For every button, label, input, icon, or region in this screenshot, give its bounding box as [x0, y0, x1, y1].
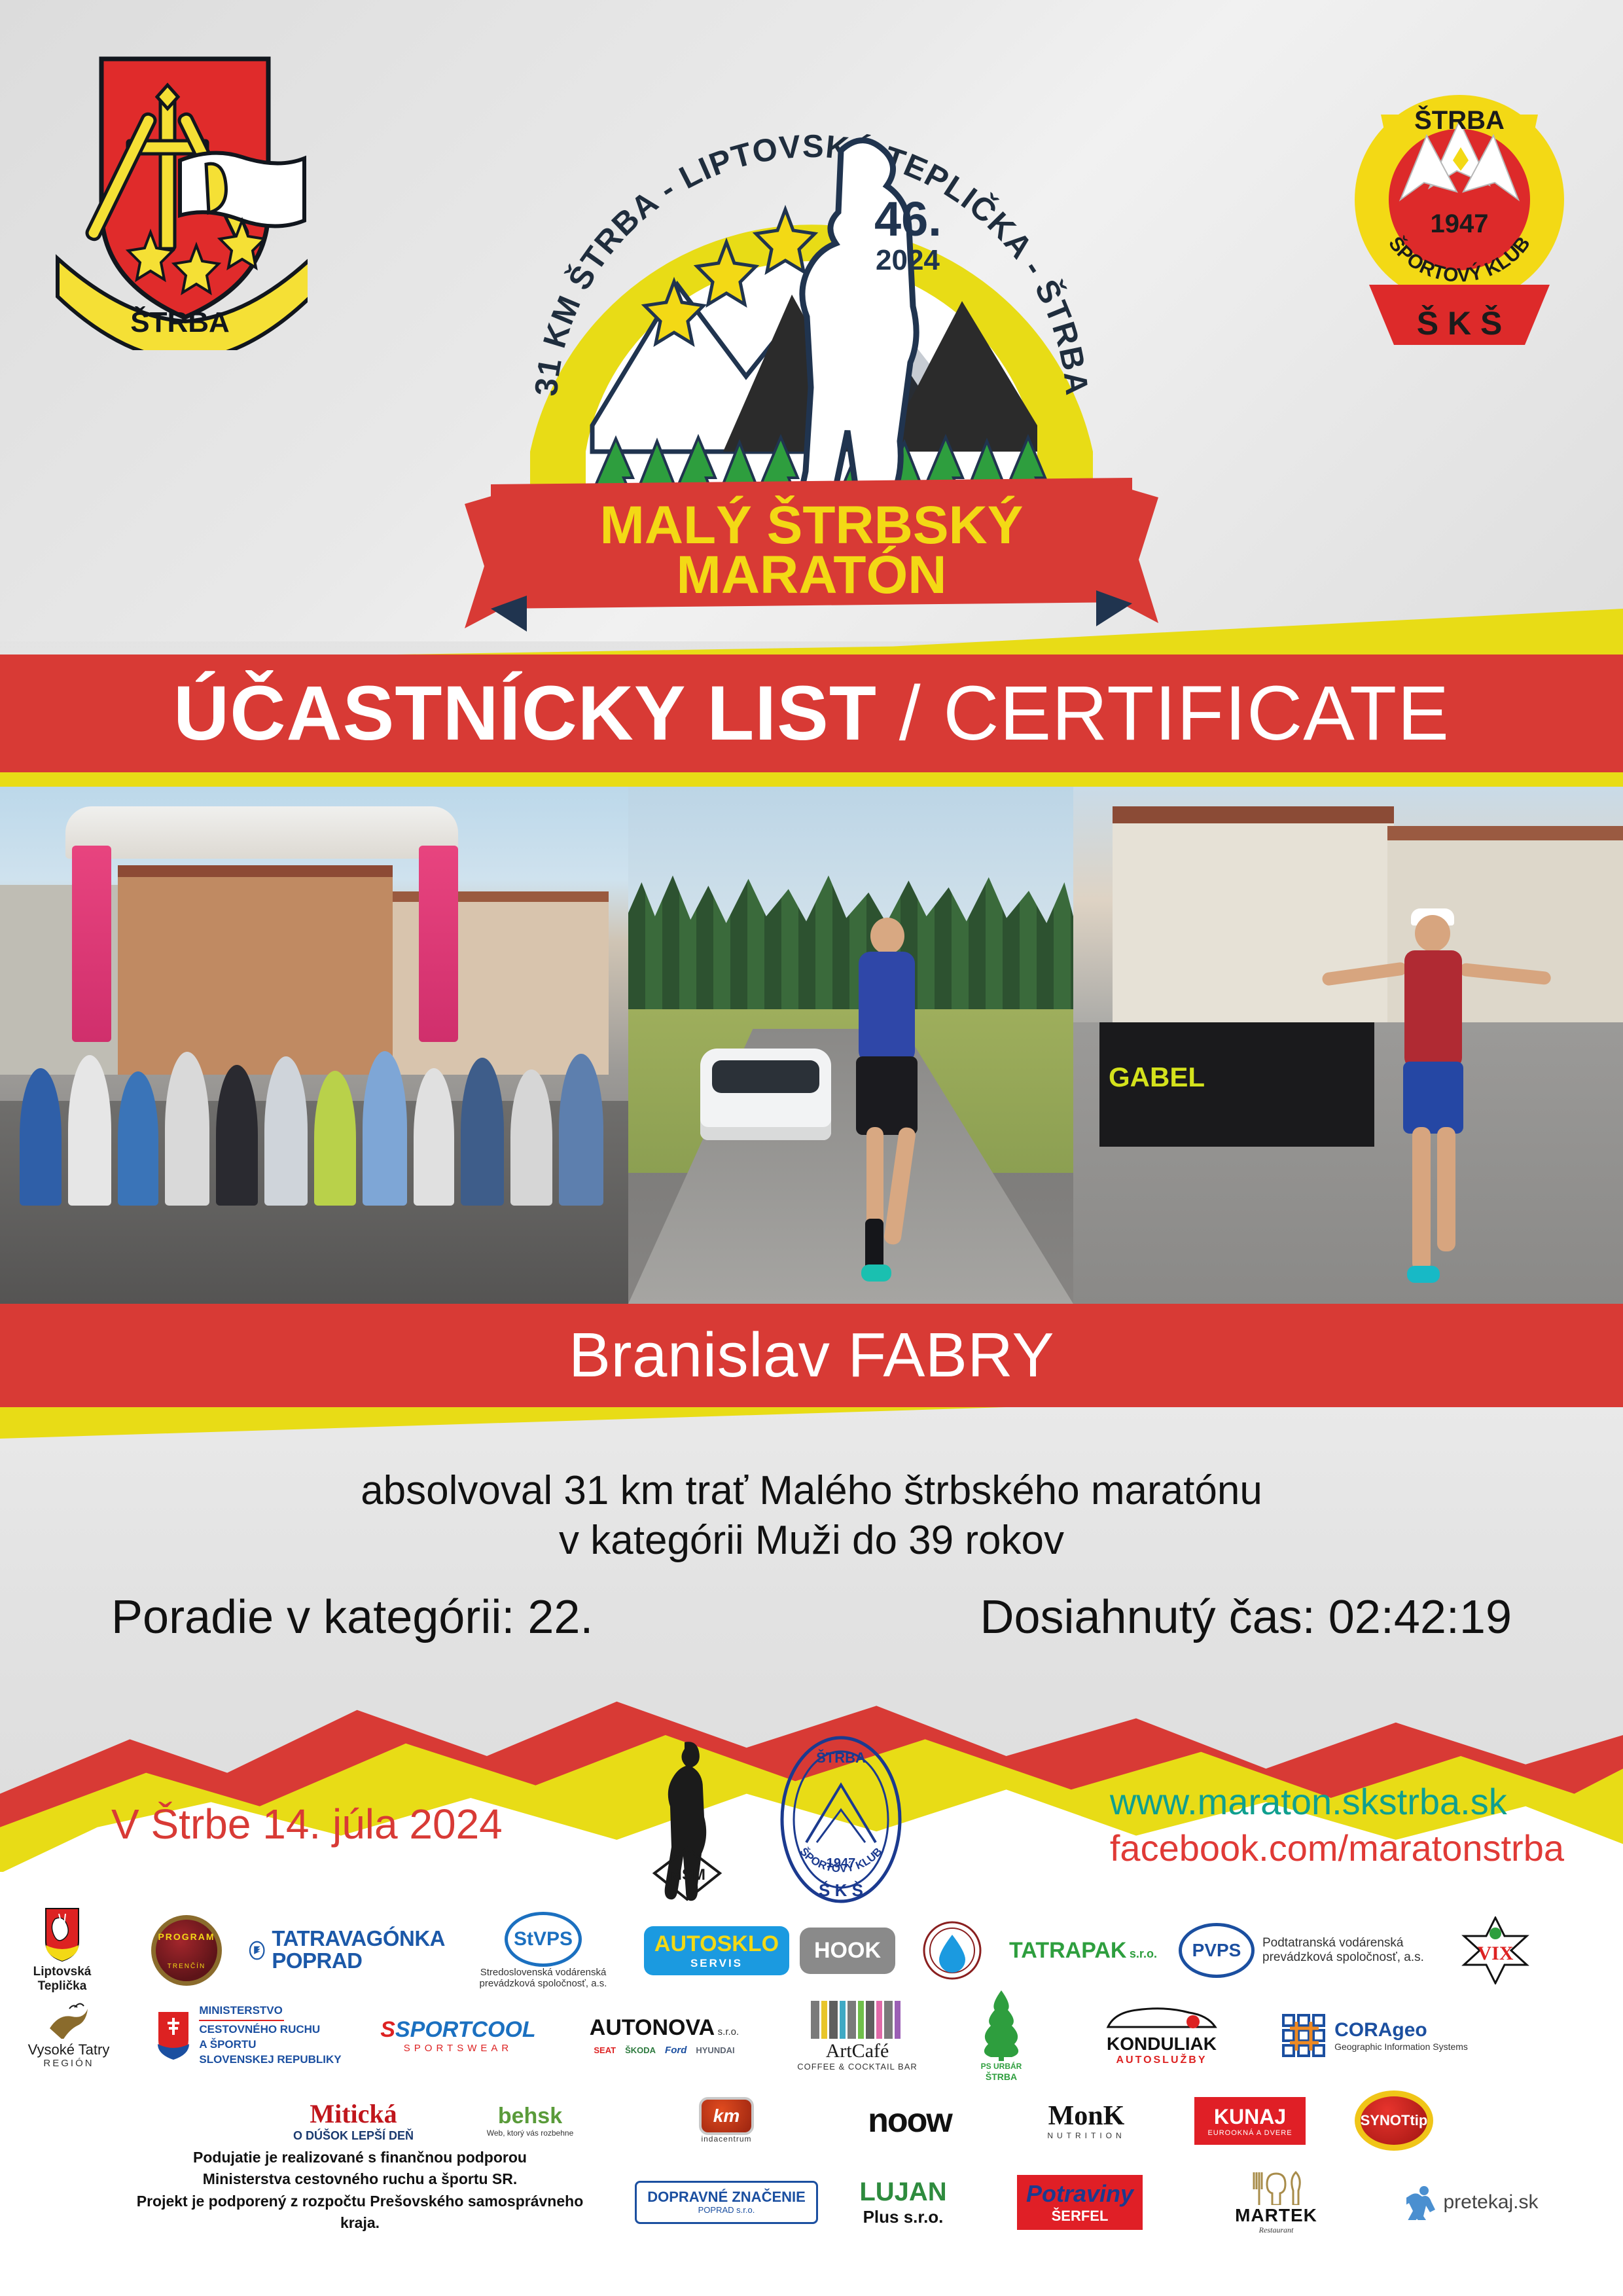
sponsor-label: SYNOTtip [1361, 2112, 1428, 2129]
sponsor-ps-urbar-strba: PS URBÁR ŠTRBA [942, 1989, 1060, 2082]
sponsor-label: LUJAN [859, 2178, 946, 2207]
sponsor-label: VIX [1477, 1943, 1513, 1964]
sponsor-sublabel: REGIÓN [43, 2058, 94, 2069]
sponsor-sublabel: POPRAD [272, 1949, 445, 1973]
strba-municipal-crest-icon: ŠTRBA [46, 36, 308, 350]
sponsor-pvps: PVPS Podtatranská vodárenská prevádzková… [1165, 1923, 1440, 1978]
footer-links: www.maraton.skstrba.sk facebook.com/mara… [1110, 1780, 1564, 1869]
sponsor-hook: HOOK [792, 1928, 903, 1974]
sponsor-label: MonK [1048, 2100, 1125, 2132]
brand-seat: SEAT [594, 2045, 616, 2055]
sponsor-dopravne-znacenie: DOPRAVNÉ ZNAČENIE POPRAD s.r.o. [628, 2181, 825, 2223]
sponsor-sublabel: SPORTSWEAR [404, 2043, 512, 2054]
sponsor-label: km [713, 2106, 740, 2126]
sponsor-sublabel: Restaurant [1259, 2226, 1294, 2235]
sponsor-label: KUNAJ [1207, 2105, 1292, 2129]
title-bold-part: ÚČASTNÍCKY LIST [173, 670, 877, 757]
sponsor-autonova: AUTONOVA s.r.o. SEAT ŠKODA Ford HYUNDAI [556, 2015, 772, 2056]
support-note-line-3: Projekt je podporený z rozpočtu Prešovsk… [118, 2191, 602, 2234]
sks-year-label: 1947 [1431, 209, 1489, 238]
msm-emblem-icon: MSM [628, 1734, 746, 1905]
sponsor-label: MARTEK [1235, 2205, 1317, 2226]
support-note-line-1: Podujatie je realizované s finančnou pod… [118, 2147, 602, 2168]
sponsor-km-indacentrum: km indacentrum [628, 2097, 825, 2144]
brand-ford: Ford [665, 2045, 687, 2056]
chamois-icon [43, 2002, 94, 2039]
photo-road-runner [628, 787, 1073, 1304]
slovak-coat-of-arms-icon [156, 2010, 191, 2061]
photo-strip: GABEL [0, 787, 1623, 1304]
participant-name: Branislav FABRY [569, 1319, 1054, 1391]
sponsor-label: StVPS [514, 1928, 573, 1950]
sponsor-program-trencin: PROGRAM TRENČÍN [124, 1915, 249, 1986]
sponsor-sublabel: Podtatranská vodárenská prevádzková spol… [1262, 1936, 1426, 1965]
sponsor-ministerstvo-sr: MINISTERSTVO CESTOVNÉHO RUCHU A ŠPORTU S… [137, 2003, 360, 2068]
event-logo-ribbon-line2: MARATÓN [677, 545, 947, 605]
title-separator: / [877, 670, 943, 757]
sponsor-behsk: behsk Web, ktorý vás rozbehne [432, 2104, 628, 2138]
header-section: ŠTRBA 31 KM ŠTRBA - LIPTOVSKÁ TEPLIČKA -… [0, 0, 1623, 641]
male-runner-figure [1381, 905, 1486, 1297]
vix-star-icon: VIX [1461, 1916, 1529, 1984]
sponsor-sportcool: SSPORTCOOL SPORTSWEAR [360, 2017, 556, 2054]
sks-sport-club-crest-icon: ŠTRBA 1947 ŠPORTOVÝ KLUB Š K Š [1329, 36, 1590, 350]
sponsor-pd-strba [903, 1920, 1001, 1981]
sponsor-sublabel: Geographic Information Systems [1334, 2041, 1468, 2052]
sponsor-sublabel: NUTRITION [1047, 2132, 1125, 2141]
sponsor-sublabel: Web, ktorý vás rozbehne [487, 2129, 574, 2138]
sponsor-tatrapak: TATRAPAK s.r.o. [1001, 1938, 1165, 1964]
sponsor-label: CORAgeo [1334, 2019, 1468, 2041]
sponsor-autosklo-servis: AUTOSKLO SERVIS [641, 1926, 792, 1975]
sponsor-sublabel: TRENČÍN [168, 1963, 205, 1970]
achievement-line-2: v kategórii Muži do 39 rokov [0, 1516, 1623, 1566]
sks-footer-bottom-label: Š K Š [819, 1880, 863, 1900]
event-logo-bib-number: 46. [874, 192, 942, 246]
sponsor-sublabel: s.r.o. [718, 2026, 740, 2037]
sponsor-tatravagonka-poprad: TATRAVAGÓNKA POPRAD [249, 1920, 445, 1981]
sponsor-label: noow [868, 2101, 952, 2140]
sponsor-monk-nutrition: MonK NUTRITION [995, 2100, 1178, 2141]
brand-hyundai: HYUNDAI [696, 2045, 734, 2055]
sponsor-vix: VIX [1440, 1916, 1551, 1984]
sponsor-label: AUTOSKLO [654, 1931, 779, 1956]
photo-finish-crowd: GABEL [1073, 787, 1623, 1304]
sponsor-sublabel: Stredoslovenská vodárenská prevádzková s… [461, 1967, 625, 1990]
sponsor-liptovska-teplicka: Liptovská Teplička [0, 1907, 124, 1994]
corageo-grid-icon [1281, 2013, 1327, 2058]
category-rank: Poradie v kategórii: 22. [111, 1590, 593, 1644]
sponsor-label: ArtCafé [826, 2040, 889, 2062]
msm-emblem-label: MSM [669, 1866, 705, 1884]
sponsor-miticka: Mitická O DÚŠOK LEPŠÍ DEŇ [275, 2098, 432, 2143]
achievement-line-1: absolvoval 31 km trať Malého štrbského m… [0, 1466, 1623, 1516]
sponsor-barrier-icon: GABEL [1099, 1022, 1374, 1147]
website-link[interactable]: www.maraton.skstrba.sk [1110, 1780, 1564, 1823]
sponsor-artcafe: ArtCafé COFFEE & COCKTAIL BAR [772, 2000, 942, 2072]
running-figure-icon [1406, 2185, 1436, 2220]
sponsor-sublabel: ŠTRBA [986, 2072, 1017, 2082]
sponsor-label: HOOK [814, 1938, 881, 1963]
sponsor-label: Potraviny [1026, 2180, 1133, 2208]
sponsor-synot-tip: SYNOTtip [1322, 2090, 1466, 2151]
sponsor-label: behsk [498, 2104, 562, 2128]
ministry-line-1: MINISTERSTVO [199, 2003, 341, 2018]
sponsor-potraviny-serfel: Potraviny ŠERFEL [982, 2175, 1178, 2230]
photo-mass-start [0, 787, 628, 1304]
sponsor-label: Mitická [310, 2098, 397, 2129]
artcafe-stripes-icon [808, 2000, 906, 2040]
sponsor-label: Vysoké Tatry [28, 2041, 110, 2058]
sponsor-pretekajsk: pretekaj.sk [1374, 2185, 1571, 2220]
cutlery-icon [1245, 2170, 1308, 2205]
support-note: Podujatie je realizované s finančnou pod… [118, 2147, 602, 2234]
follow-car-icon [700, 1049, 831, 1140]
liptovska-teplicka-crest-icon [43, 1907, 81, 1962]
ministry-line-2: CESTOVNÉHO RUCHU [199, 2022, 341, 2037]
sponsor-martek-restaurant: MARTEK Restaurant [1178, 2170, 1374, 2235]
sponsor-label: Liptovská Teplička [33, 1965, 92, 1994]
sks-bottom-label: Š K Š [1417, 304, 1503, 342]
sponsor-sublabel: s.r.o. [1130, 1947, 1157, 1960]
tatravagonka-mark-icon [249, 1920, 265, 1981]
sponsor-sublabel: AUTOSLUŽBY [1116, 2054, 1207, 2066]
ministry-line-3: A ŠPORTU [199, 2037, 341, 2053]
crest-ribbon-label: ŠTRBA [130, 305, 230, 338]
sponsor-label: KONDULIAK [1107, 2034, 1217, 2054]
sponsor-noow: noow [825, 2101, 995, 2140]
event-logo-icon: 31 KM ŠTRBA - LIPTOVSKÁ TEPLIČKA - ŠTRBA [465, 20, 1158, 635]
sponsor-label: TATRAPAK [1009, 1938, 1126, 1963]
ministry-line-4: SLOVENSKEJ REPUBLIKY [199, 2053, 341, 2068]
yellow-wedge-under-name [0, 1407, 1623, 1460]
car-outline-icon [1103, 2005, 1221, 2034]
sks-footer-top-label: ŠTRBA [816, 1749, 866, 1766]
date-and-place: V Štrbe 14. júla 2024 [111, 1800, 503, 1848]
facebook-link[interactable]: facebook.com/maratonstrba [1110, 1827, 1564, 1869]
sponsor-label: TATRAVAGÓNKA [272, 1928, 445, 1949]
support-note-line-2: Ministerstva cestovného ruchu a športu S… [118, 2168, 602, 2190]
finish-time: Dosiahnutý čas: 02:42:19 [980, 1590, 1512, 1644]
certificate-title-bar: ÚČASTNÍCKY LIST / CERTIFICATE [0, 655, 1623, 772]
spruce-tree-icon [973, 1989, 1029, 2062]
sponsor-corageo: CORAgeo Geographic Information Systems [1263, 2013, 1486, 2058]
sponsor-sublabel: Plus s.r.o. [863, 2207, 944, 2227]
sponsor-label: DOPRAVNÉ ZNAČENIE [647, 2189, 806, 2205]
title-light-part: CERTIFICATE [943, 670, 1450, 757]
sponsor-sublabel: SERVIS [654, 1957, 779, 1970]
sks-top-label: ŠTRBA [1414, 105, 1505, 135]
footer-section: V Štrbe 14. júla 2024 MSM ŠTRBA 1947 ŠPO… [0, 1872, 1623, 2296]
pd-strba-icon [922, 1920, 982, 1981]
sponsor-label: SPORTCOOL [395, 2017, 536, 2042]
certificate-page: ŠTRBA 31 KM ŠTRBA - LIPTOVSKÁ TEPLIČKA -… [0, 0, 1623, 2296]
event-logo-bib-year: 2024 [876, 244, 940, 276]
achievement-details: absolvoval 31 km trať Malého štrbského m… [0, 1466, 1623, 1682]
sponsor-sublabel: ŠERFEL [1026, 2208, 1133, 2225]
sponsor-sublabel: O DÚŠOK LEPŠÍ DEŇ [293, 2129, 414, 2143]
sponsor-sublabel: POPRAD s.r.o. [647, 2206, 806, 2215]
sponsor-sublabel: EUROOKNÁ A DVERE [1207, 2129, 1292, 2137]
participant-name-banner: Branislav FABRY [0, 1304, 1623, 1407]
sponsor-label: pretekaj.sk [1443, 2191, 1538, 2214]
female-runner-figure [844, 911, 929, 1278]
sponsor-konduliak: KONDULIAK AUTOSLUŽBY [1060, 2005, 1263, 2066]
result-row: Poradie v kategórii: 22. Dosiahnutý čas:… [0, 1590, 1623, 1644]
sponsor-lujan-plus: LUJAN Plus s.r.o. [825, 2178, 982, 2227]
sponsor-vysoke-tatry-region: Vysoké Tatry REGIÓN [0, 2002, 137, 2070]
sponsor-sublabel: COFFEE & COCKTAIL BAR [797, 2062, 918, 2072]
sks-footer-emblem-icon: ŠTRBA 1947 ŠPORTOVÝ KLUB Š K Š [766, 1731, 916, 1908]
brand-skoda: ŠKODA [625, 2045, 656, 2055]
sponsor-sublabel: indacentrum [701, 2135, 751, 2144]
sponsor-label: PS URBÁR [981, 2062, 1022, 2072]
sponsor-kunaj: KUNAJ EUROOKNÁ A DVERE [1178, 2097, 1322, 2145]
sponsor-stvps: StVPS Stredoslovenská vodárenská prevádz… [445, 1912, 641, 1990]
sponsor-label: PROGRAM [158, 1931, 215, 1942]
sponsor-label: PVPS [1192, 1940, 1241, 1961]
sponsor-label: AUTONOVA [590, 2015, 715, 2040]
